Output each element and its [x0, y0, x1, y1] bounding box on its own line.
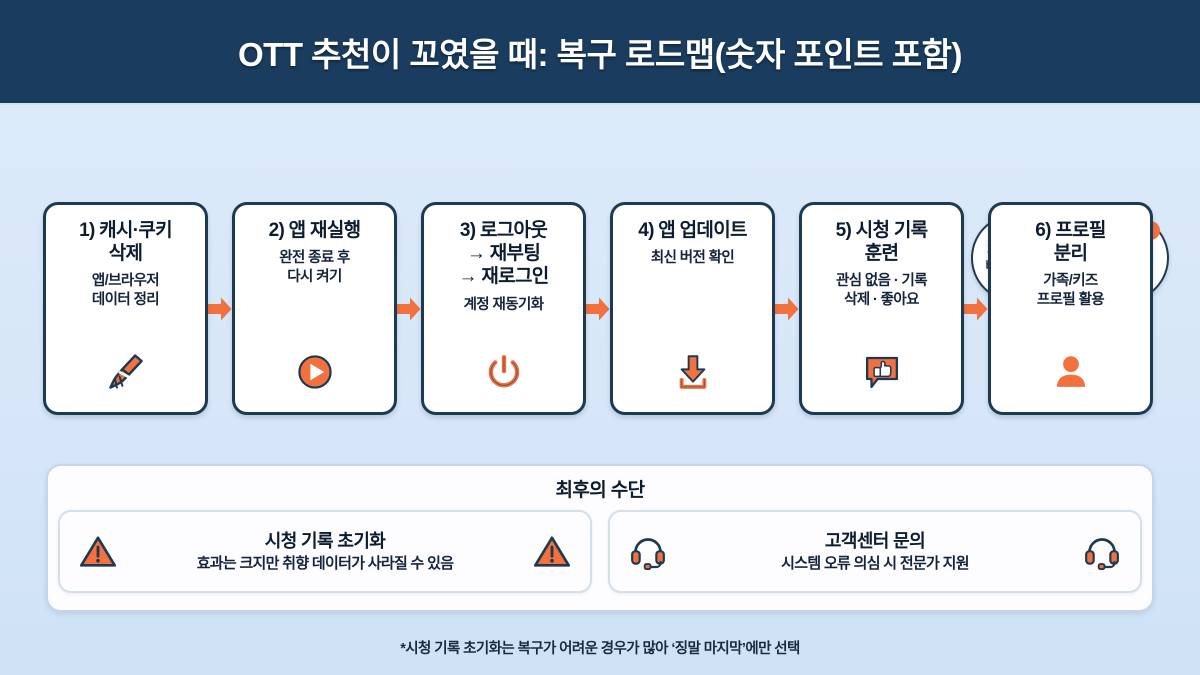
last-resort-text-block: 시청 기록 초기화 효과는 크지만 취향 데이터가 사라질 수 있음 — [120, 530, 530, 574]
last-resort-title: 시청 기록 초기화 — [126, 530, 524, 553]
power-icon — [424, 348, 583, 396]
last-resort-title: 고객센터 문의 — [676, 530, 1074, 553]
steps-row: 1) 캐시·쿠키 삭제 앱/브라우저 데이터 정리 2) 앱 재 — [43, 202, 1157, 415]
step-title: 2) 앱 재실행 — [269, 219, 361, 242]
step-title: 1) 캐시·쿠키 삭제 — [79, 219, 172, 265]
thumbs-up-bubble-icon — [802, 348, 961, 396]
step-title: 3) 로그아웃 → 재부팅 → 재로그인 — [459, 219, 549, 289]
step-subtitle: 관심 없음 · 기록 삭제 · 좋아요 — [836, 272, 927, 309]
step-subtitle: 완전 종료 후 다시 켜기 — [279, 249, 350, 286]
last-resort-card-reset: 시청 기록 초기화 효과는 크지만 취향 데이터가 사라질 수 있음 — [58, 510, 592, 593]
step-card-1: 1) 캐시·쿠키 삭제 앱/브라우저 데이터 정리 — [43, 202, 208, 415]
headset-icon — [626, 530, 670, 574]
step-title: 5) 시청 기록 훈련 — [836, 219, 928, 265]
last-resort-panel: 최후의 수단 시청 기록 초기화 효과는 크지만 취향 데이터가 사라질 수 있… — [46, 464, 1154, 612]
step-card-3: 3) 로그아웃 → 재부팅 → 재로그인 계정 재동기화 — [421, 202, 586, 415]
header-bar: OTT 추천이 꼬였을 때: 복구 로드맵(숫자 포인트 포함) — [0, 0, 1200, 103]
panel-row: 시청 기록 초기화 효과는 크지만 취향 데이터가 사라질 수 있음 — [58, 510, 1142, 593]
step-subtitle: 최신 버전 확인 — [651, 249, 734, 268]
panel-title: 최후의 수단 — [58, 475, 1142, 502]
last-resort-subtitle: 시스템 오류 의심 시 전문가 지원 — [676, 554, 1074, 574]
step-subtitle: 앱/브라우저 데이터 정리 — [92, 272, 159, 309]
headset-icon — [1080, 530, 1124, 574]
warning-triangle-icon — [530, 530, 574, 574]
warning-triangle-icon — [76, 530, 120, 574]
page-title: OTT 추천이 꼬였을 때: 복구 로드맵(숫자 포인트 포함) — [238, 28, 962, 76]
step-title: 6) 프로필 분리 — [1035, 219, 1105, 265]
footnote: *시청 기록 초기화는 복구가 어려운 경우가 많아 ‘징말 마지막’에만 선택 — [0, 637, 1200, 658]
step-title: 4) 앱 업데이트 — [638, 219, 747, 242]
infographic-page: OTT 추천이 꼬였을 때: 복구 로드맵(숫자 포인트 포함) 10분 시청도… — [0, 0, 1200, 675]
badge-group: 10분 시청도 추천을 바꿀 수 있음 2~3일 피드백이면 빠르게 정리 한 … — [0, 106, 1200, 198]
last-resort-text-block: 고객센터 문의 시스템 오류 의심 시 전문가 지원 — [670, 530, 1080, 574]
step-card-2: 2) 앱 재실행 완전 종료 후 다시 켜기 — [232, 202, 397, 415]
step-card-5: 5) 시청 기록 훈련 관심 없음 · 기록 삭제 · 좋아요 — [799, 202, 964, 415]
person-icon — [991, 348, 1150, 396]
broom-icon — [46, 348, 205, 396]
step-card-4: 4) 앱 업데이트 최신 버전 확인 — [610, 202, 775, 415]
step-arrow — [586, 279, 610, 339]
step-subtitle: 가족/키즈 프로필 활용 — [1037, 272, 1104, 309]
last-resort-card-support: 고객센터 문의 시스템 오류 의심 시 전문가 지원 — [608, 510, 1142, 593]
download-icon — [613, 348, 772, 396]
step-arrow — [208, 279, 232, 339]
step-arrow — [775, 279, 799, 339]
play-circle-icon — [235, 348, 394, 396]
step-arrow — [964, 279, 988, 339]
step-card-6: 6) 프로필 분리 가족/키즈 프로필 활용 — [988, 202, 1153, 415]
step-subtitle: 계정 재동기화 — [464, 296, 544, 315]
last-resort-subtitle: 효과는 크지만 취향 데이터가 사라질 수 있음 — [126, 554, 524, 574]
step-arrow — [397, 279, 421, 339]
